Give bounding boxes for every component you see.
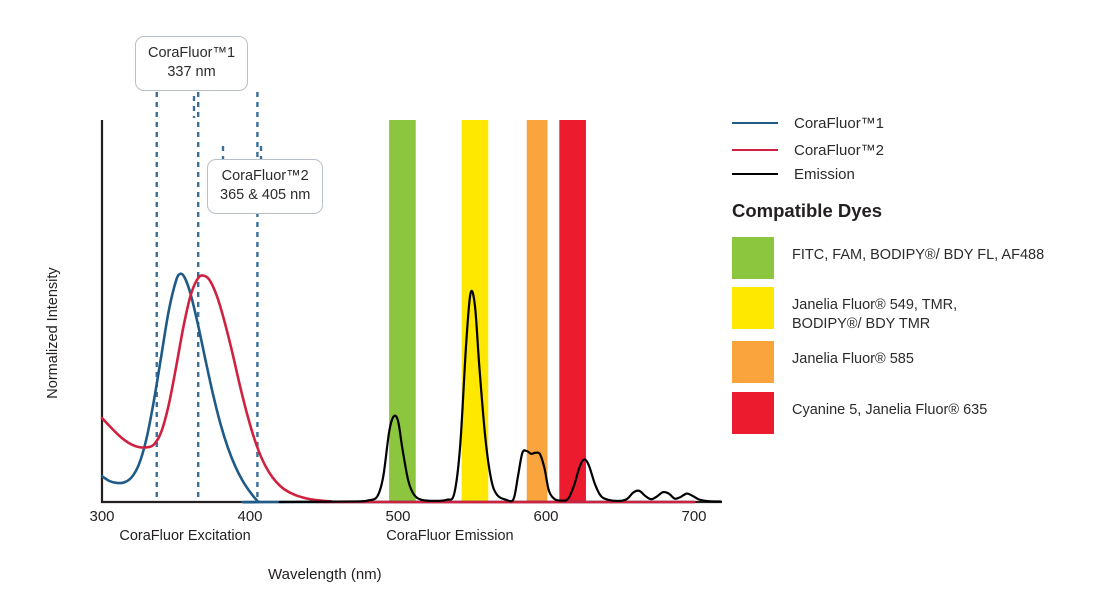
curve-emission-emission <box>280 291 721 502</box>
x-tick-300: 300 <box>72 508 132 525</box>
dye-swatch-yellow <box>732 287 774 329</box>
legend-line-swatch-emission <box>732 173 778 175</box>
legend-label-corafluor2: CoraFluor™2 <box>794 142 884 159</box>
callout-corafluor1-line1: CoraFluor™1 <box>148 44 235 63</box>
dye-label-red: Cyanine 5, Janelia Fluor® 635 <box>792 392 987 420</box>
x-tick-600: 600 <box>516 508 576 525</box>
x-tick-400: 400 <box>220 508 280 525</box>
legend-line-swatch-corafluor2 <box>732 149 778 151</box>
x-sublabel-0: CoraFluor Excitation <box>119 528 250 544</box>
dye-swatch-red <box>732 392 774 434</box>
dye-item-orange: Janelia Fluor® 585 <box>732 341 914 383</box>
legend-item-corafluor1: CoraFluor™1 <box>732 112 884 134</box>
callout-corafluor2-line2: 365 & 405 nm <box>220 186 310 205</box>
legend-item-corafluor2: CoraFluor™2 <box>732 139 884 161</box>
callout-leader-lines-group <box>194 96 261 168</box>
callout-corafluor2: CoraFluor™2 365 & 405 nm <box>207 159 323 214</box>
x-tick-500: 500 <box>368 508 428 525</box>
compatible-dyes-heading: Compatible Dyes <box>732 200 882 222</box>
dye-swatch-orange <box>732 341 774 383</box>
legend-panel: CoraFluor™1 CoraFluor™2 Emission Compati… <box>732 0 1110 612</box>
y-axis-title: Normalized Intensity <box>45 243 61 423</box>
x-sublabel-1: CoraFluor Emission <box>386 528 513 544</box>
emission-bands-group <box>389 120 586 502</box>
legend-line-swatch-corafluor1 <box>732 122 778 124</box>
dye-label-yellow: Janelia Fluor® 549, TMR, BODIPY®/ BDY TM… <box>792 287 957 335</box>
dye-label-orange: Janelia Fluor® 585 <box>792 341 914 369</box>
dye-item-green: FITC, FAM, BODIPY®/ BDY FL, AF488 <box>732 237 1044 279</box>
dye-swatch-green <box>732 237 774 279</box>
x-tick-700: 700 <box>664 508 724 525</box>
orange-band <box>527 120 548 502</box>
dye-item-red: Cyanine 5, Janelia Fluor® 635 <box>732 392 987 434</box>
dye-item-yellow: Janelia Fluor® 549, TMR, BODIPY®/ BDY TM… <box>732 287 957 335</box>
spectra-chart: CoraFluor™1 337 nm CoraFluor™2 365 & 405… <box>0 0 740 612</box>
x-axis-title: Wavelength (nm) <box>268 566 382 583</box>
legend-item-emission: Emission <box>732 163 855 185</box>
legend-label-corafluor1: CoraFluor™1 <box>794 115 884 132</box>
callout-corafluor2-line1: CoraFluor™2 <box>220 167 310 186</box>
dye-label-green: FITC, FAM, BODIPY®/ BDY FL, AF488 <box>792 237 1044 265</box>
red-band <box>559 120 586 502</box>
legend-label-emission: Emission <box>794 166 855 183</box>
callout-corafluor1: CoraFluor™1 337 nm <box>135 36 248 91</box>
callout-corafluor1-line2: 337 nm <box>148 63 235 82</box>
figure-root: CoraFluor™1 337 nm CoraFluor™2 365 & 405… <box>0 0 1110 612</box>
